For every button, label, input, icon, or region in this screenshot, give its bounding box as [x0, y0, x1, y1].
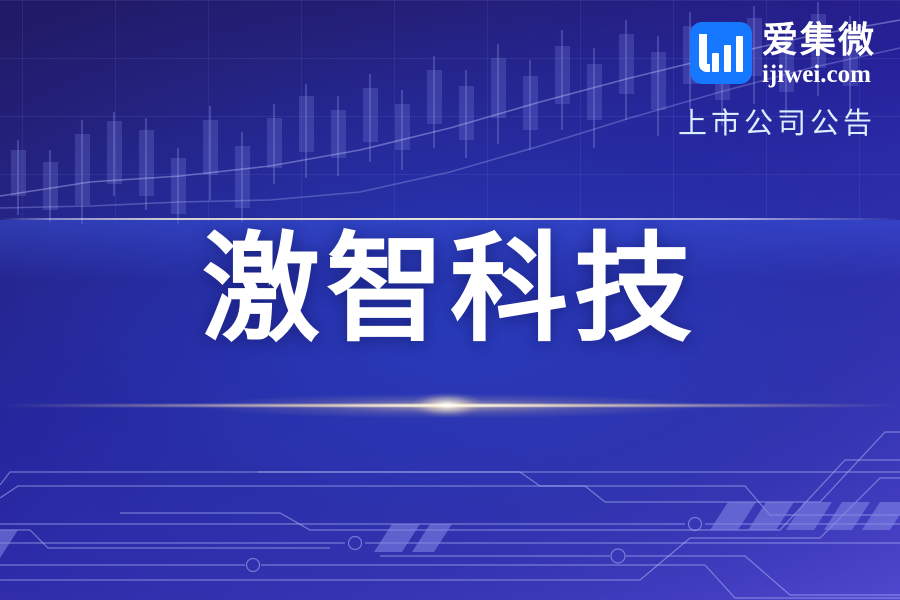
logo-bar-medium — [724, 45, 731, 72]
announcement-poster: 爱集微 ijiwei.com 上市公司公告 激智科技 — [0, 0, 900, 600]
brand-name-en: ijiwei.com — [762, 61, 876, 89]
circuit-trace-decoration — [0, 420, 900, 600]
logo-bar-short — [712, 53, 719, 72]
logo-bar-tall — [736, 36, 743, 72]
brand-logo-row: 爱集微 ijiwei.com — [690, 22, 876, 88]
brand-name-cn: 爱集微 — [762, 22, 876, 60]
bar-chart-logo-icon — [690, 22, 752, 84]
logo-bars — [699, 34, 743, 72]
brand-name-group: 爱集微 ijiwei.com — [762, 22, 876, 88]
brand-block: 爱集微 ijiwei.com 上市公司公告 — [678, 22, 876, 142]
brand-subtitle: 上市公司公告 — [678, 100, 876, 142]
light-flare-core — [392, 380, 502, 430]
page-title: 激智科技 — [0, 228, 900, 352]
logo-j-stroke — [699, 34, 707, 72]
